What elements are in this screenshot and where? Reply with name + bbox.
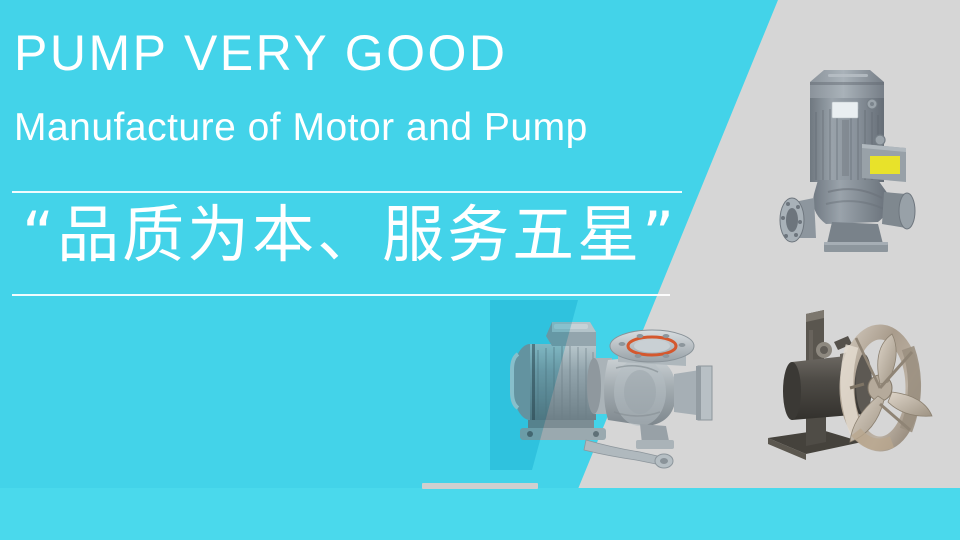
bottom-color-band — [0, 488, 960, 540]
divider-bottom — [12, 294, 670, 296]
page-title: PUMP VERY GOOD — [14, 28, 507, 78]
product-image-submersible-mixer — [752, 292, 947, 472]
carousel-slide-indicator[interactable] — [422, 483, 538, 489]
page-subtitle: Manufacture of Motor and Pump — [14, 108, 588, 147]
promotional-banner: PUMP VERY GOOD Manufacture of Motor and … — [0, 0, 960, 540]
slogan-text: “品质为本、服务五星” — [22, 200, 677, 269]
product-image-horizontal-centrifugal-pump — [490, 300, 735, 470]
divider-top — [12, 191, 682, 193]
product-image-vertical-inline-pump — [766, 52, 941, 267]
